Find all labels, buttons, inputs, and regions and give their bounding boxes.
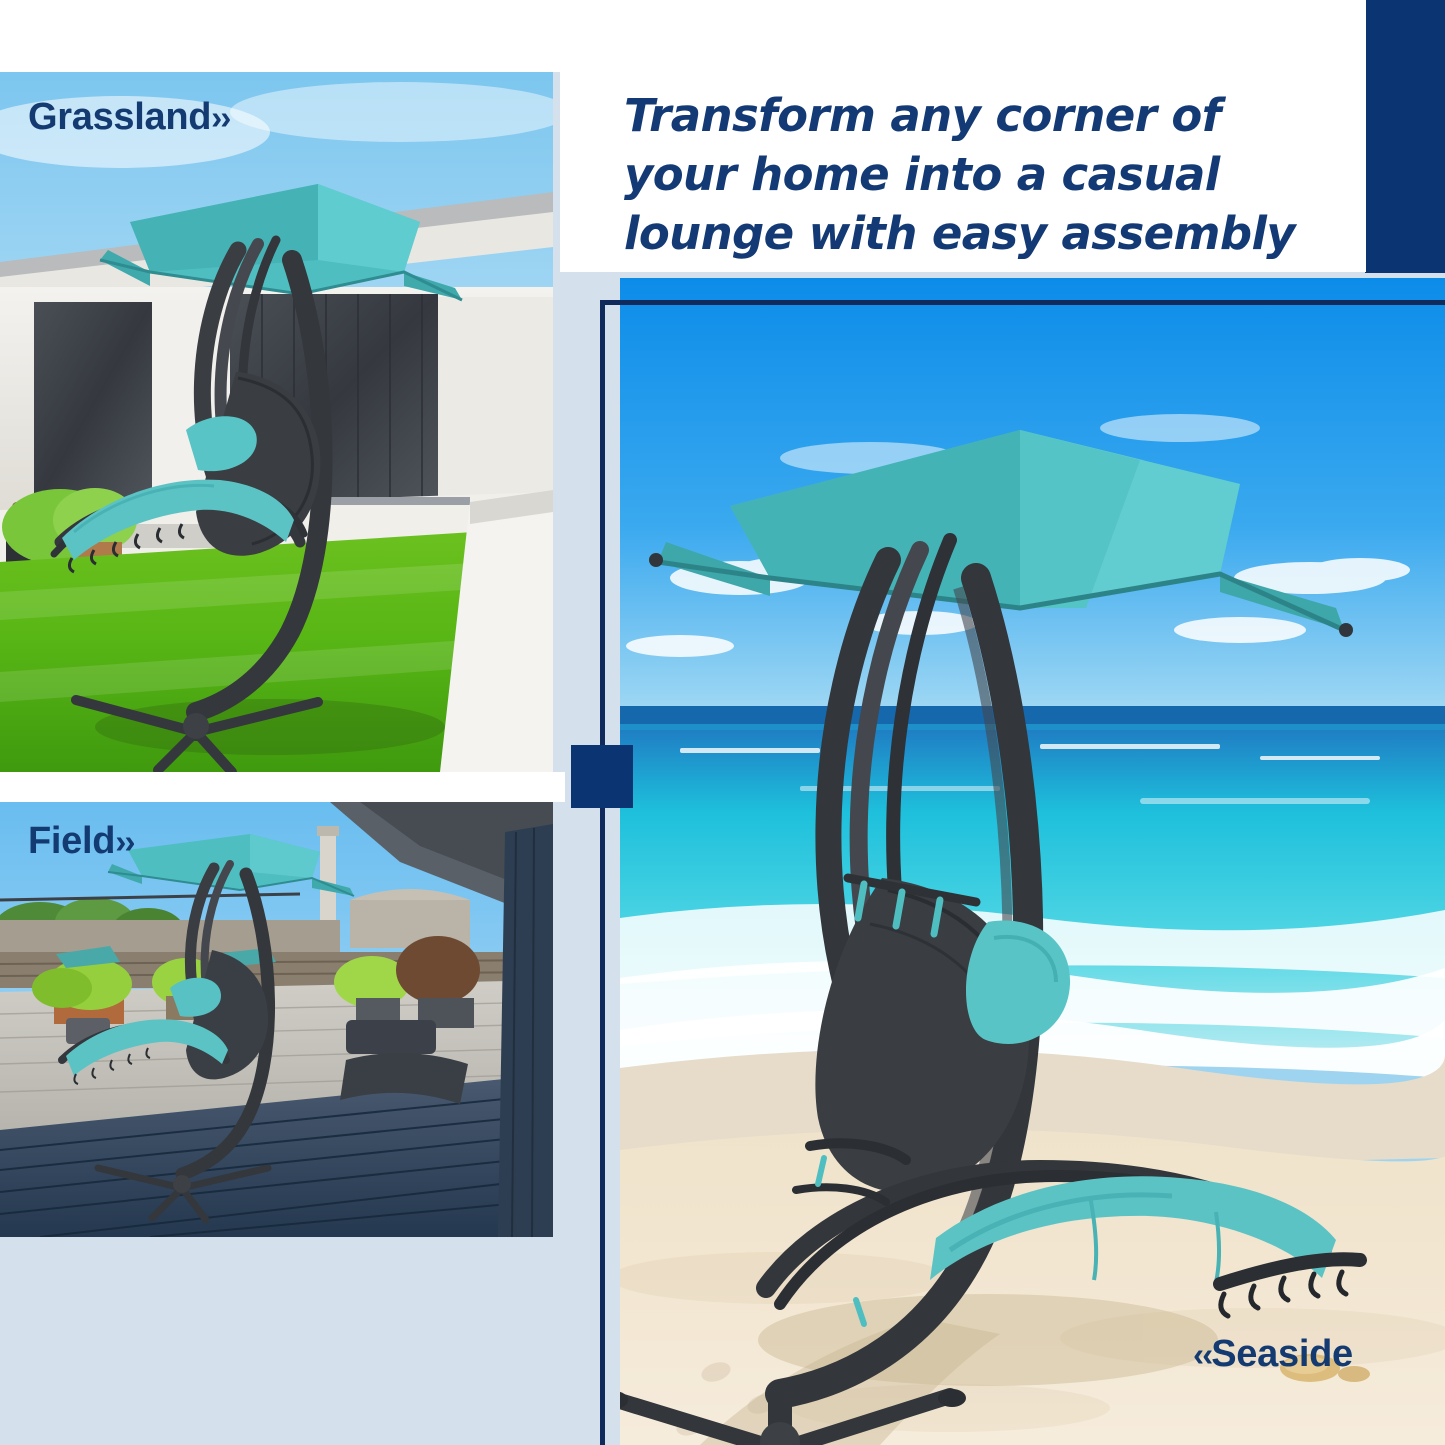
panel-seaside[interactable]: ‹‹Seaside xyxy=(620,278,1445,1445)
field-scene xyxy=(0,802,553,1237)
caption-field: Field›› xyxy=(28,820,133,863)
frame-line-vertical xyxy=(600,300,605,1445)
gap-white-strip xyxy=(0,772,565,802)
header-white-strip-left xyxy=(0,0,565,72)
headline-line-3: lounge with easy assembly xyxy=(624,204,1295,263)
chevron-right-icon-field: ›› xyxy=(115,824,133,862)
caption-field-label: Field xyxy=(28,820,115,862)
headline-line-1: Transform any corner of xyxy=(624,86,1295,145)
chevron-right-icon-grassland: ›› xyxy=(211,100,229,138)
headline: Transform any corner of your home into a… xyxy=(624,86,1295,263)
chevron-left-icon-seaside: ‹‹ xyxy=(1193,1337,1211,1375)
frame-line-horizontal xyxy=(600,300,1445,305)
caption-seaside-label: Seaside xyxy=(1211,1333,1353,1375)
panel-grassland[interactable]: Grassland›› xyxy=(0,72,553,772)
caption-seaside: ‹‹Seaside xyxy=(1193,1333,1353,1376)
grassland-scene xyxy=(0,72,553,772)
promo-canvas: Transform any corner of your home into a… xyxy=(0,0,1445,1445)
caption-grassland-label: Grassland xyxy=(28,96,211,138)
navy-corner-block xyxy=(1365,0,1445,273)
panel-field[interactable]: Field›› xyxy=(0,802,553,1237)
caption-grassland: Grassland›› xyxy=(28,96,229,139)
headline-line-2: your home into a casual xyxy=(624,145,1295,204)
seaside-scene xyxy=(620,278,1445,1445)
navy-accent-square xyxy=(571,745,633,808)
